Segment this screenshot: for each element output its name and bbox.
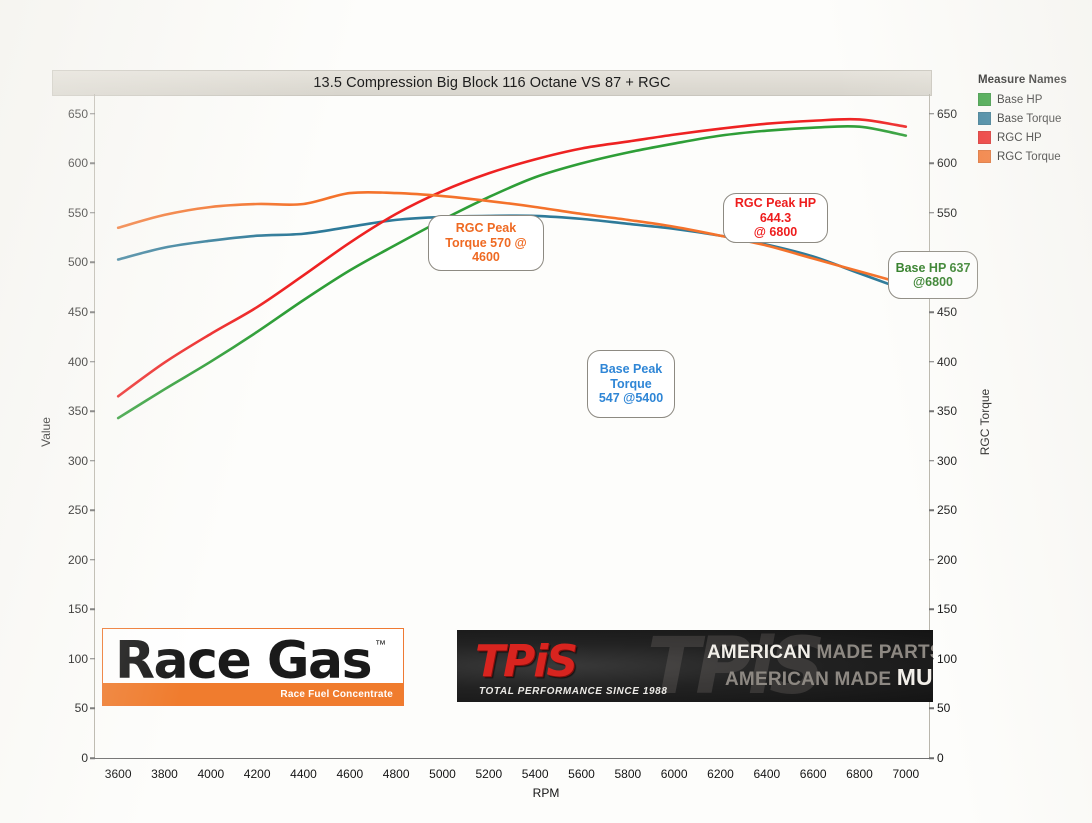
y-tick-label-left: 650	[68, 107, 88, 121]
legend-swatch-rgc-hp	[978, 131, 991, 144]
y-tick-mark-left	[90, 609, 95, 611]
legend-label-base-torque: Base Torque	[997, 113, 1061, 125]
y-tick-mark-left	[90, 113, 95, 115]
y-tick-label-right: 600	[937, 156, 957, 170]
annotation-rgc-peak-hp-text: RGC Peak HP644.3@ 6800	[735, 196, 816, 240]
y-tick-label-left: 550	[68, 206, 88, 220]
annotation-base-hp-text: Base HP 637@6800	[896, 261, 971, 290]
x-tick-label: 3600	[105, 767, 132, 781]
y-tick-mark-left	[90, 559, 95, 561]
x-tick-label: 3800	[151, 767, 178, 781]
y-tick-label-right: 0	[937, 751, 944, 765]
tpis-tagline: TOTAL PERFORMANCE SINCE 1988	[479, 686, 668, 697]
y-tick-mark-right	[929, 509, 934, 511]
y-tick-label-right: 400	[937, 355, 957, 369]
y-tick-mark-left	[90, 460, 95, 462]
x-tick-label: 5000	[429, 767, 456, 781]
page-title: 13.5 Compression Big Block 116 Octane VS…	[313, 75, 670, 91]
y-tick-label-right: 200	[937, 553, 957, 567]
y-tick-mark-right	[929, 708, 934, 710]
x-tick-label: 6200	[707, 767, 734, 781]
x-tick-label: 5200	[475, 767, 502, 781]
x-tick-label: 5400	[522, 767, 549, 781]
y-tick-label-left: 150	[68, 602, 88, 616]
x-tick-label: 6400	[753, 767, 780, 781]
y-tick-label-left: 300	[68, 454, 88, 468]
legend-swatch-base-hp	[978, 93, 991, 106]
y-tick-label-right: 450	[937, 305, 957, 319]
y-tick-mark-left	[90, 757, 95, 759]
y-tick-label-left: 600	[68, 156, 88, 170]
y-tick-label-left: 400	[68, 355, 88, 369]
y-tick-label-right: 650	[937, 107, 957, 121]
x-tick-label: 6600	[800, 767, 827, 781]
annotation-base-hp: Base HP 637@6800	[888, 251, 978, 299]
y-tick-mark-right	[929, 609, 934, 611]
legend-label-rgc-hp: RGC HP	[997, 132, 1042, 144]
annotation-base-peak-torque-text: Base PeakTorque547 @5400	[599, 362, 663, 406]
y-tick-mark-left	[90, 212, 95, 214]
race-gas-tagline-bar: Race Fuel Concentrate	[103, 683, 403, 705]
x-tick-label: 4200	[244, 767, 271, 781]
y-tick-mark-left	[90, 311, 95, 313]
race-gas-wordmark: Race Gas	[115, 631, 371, 691]
y-tick-mark-right	[929, 460, 934, 462]
y-tick-mark-right	[929, 163, 934, 165]
y-tick-mark-left	[90, 262, 95, 264]
race-gas-tagline: Race Fuel Concentrate	[280, 689, 393, 700]
y-tick-mark-left	[90, 361, 95, 363]
legend-swatch-rgc-torque	[978, 150, 991, 163]
y-tick-mark-left	[90, 658, 95, 660]
y-tick-label-left: 500	[68, 255, 88, 269]
tpis-wordmark: TPiS	[475, 636, 576, 687]
y-axis-label-right: RGC Torque	[978, 389, 992, 455]
legend-item-rgc-torque[interactable]: RGC Torque	[978, 147, 1090, 166]
x-axis-label: RPM	[0, 786, 1092, 800]
y-tick-label-left: 250	[68, 503, 88, 517]
x-tick-label: 5800	[614, 767, 641, 781]
x-tick-label: 7000	[892, 767, 919, 781]
x-tick-label: 5600	[568, 767, 595, 781]
legend-title: Measure Names	[978, 74, 1090, 86]
y-tick-label-right: 250	[937, 503, 957, 517]
series-line-base-hp	[118, 126, 906, 418]
y-tick-label-right: 550	[937, 206, 957, 220]
legend-item-base-torque[interactable]: Base Torque	[978, 109, 1090, 128]
y-tick-label-right: 100	[937, 652, 957, 666]
y-axis-label-left: Value	[39, 417, 53, 447]
x-tick-label: 4000	[197, 767, 224, 781]
legend-label-base-hp: Base HP	[997, 94, 1042, 106]
x-tick-label: 4400	[290, 767, 317, 781]
x-tick-label: 4800	[383, 767, 410, 781]
tpis-slogan-line-1: AMERICAN MADE PARTS FOR	[707, 642, 933, 664]
y-tick-mark-left	[90, 163, 95, 165]
annotation-rgc-peak-torque: RGC PeakTorque 570 @4600	[428, 215, 544, 271]
chart-page: 13.5 Compression Big Block 116 Octane VS…	[0, 0, 1092, 823]
tpis-logo: TPiS TPiS TOTAL PERFORMANCE SINCE 1988 A…	[457, 630, 933, 702]
y-tick-label-right: 50	[937, 701, 950, 715]
y-tick-label-left: 450	[68, 305, 88, 319]
race-gas-logo: Race Gas ™ Race Fuel Concentrate	[102, 628, 404, 706]
annotation-rgc-peak-torque-text: RGC PeakTorque 570 @4600	[445, 221, 526, 265]
y-tick-label-right: 350	[937, 404, 957, 418]
legend-label-rgc-torque: RGC Torque	[997, 151, 1061, 163]
x-tick-label: 6000	[661, 767, 688, 781]
y-tick-mark-right	[929, 757, 934, 759]
legend: Measure Names Base HP Base Torque RGC HP…	[978, 74, 1090, 166]
x-tick-label: 4600	[336, 767, 363, 781]
y-tick-mark-right	[929, 410, 934, 412]
chart-title-bar: 13.5 Compression Big Block 116 Octane VS…	[52, 70, 932, 96]
tpis-slogan-line-2: AMERICAN MADE MUSCLE	[725, 664, 933, 691]
trademark-icon: ™	[375, 639, 386, 651]
y-tick-mark-left	[90, 509, 95, 511]
y-tick-mark-right	[929, 212, 934, 214]
y-tick-label-left: 0	[81, 751, 88, 765]
y-tick-mark-right	[929, 559, 934, 561]
y-tick-label-left: 350	[68, 404, 88, 418]
y-tick-label-left: 50	[75, 701, 88, 715]
y-tick-mark-left	[90, 708, 95, 710]
y-tick-label-right: 300	[937, 454, 957, 468]
y-tick-mark-right	[929, 113, 934, 115]
legend-item-rgc-hp[interactable]: RGC HP	[978, 128, 1090, 147]
legend-swatch-base-torque	[978, 112, 991, 125]
y-tick-label-right: 150	[937, 602, 957, 616]
y-tick-mark-right	[929, 361, 934, 363]
y-tick-label-left: 200	[68, 553, 88, 567]
x-tick-label: 6800	[846, 767, 873, 781]
y-tick-label-left: 100	[68, 652, 88, 666]
y-tick-mark-right	[929, 311, 934, 313]
legend-item-base-hp[interactable]: Base HP	[978, 90, 1090, 109]
annotation-base-peak-torque: Base PeakTorque547 @5400	[587, 350, 675, 418]
annotation-rgc-peak-hp: RGC Peak HP644.3@ 6800	[723, 193, 828, 243]
y-tick-mark-left	[90, 410, 95, 412]
